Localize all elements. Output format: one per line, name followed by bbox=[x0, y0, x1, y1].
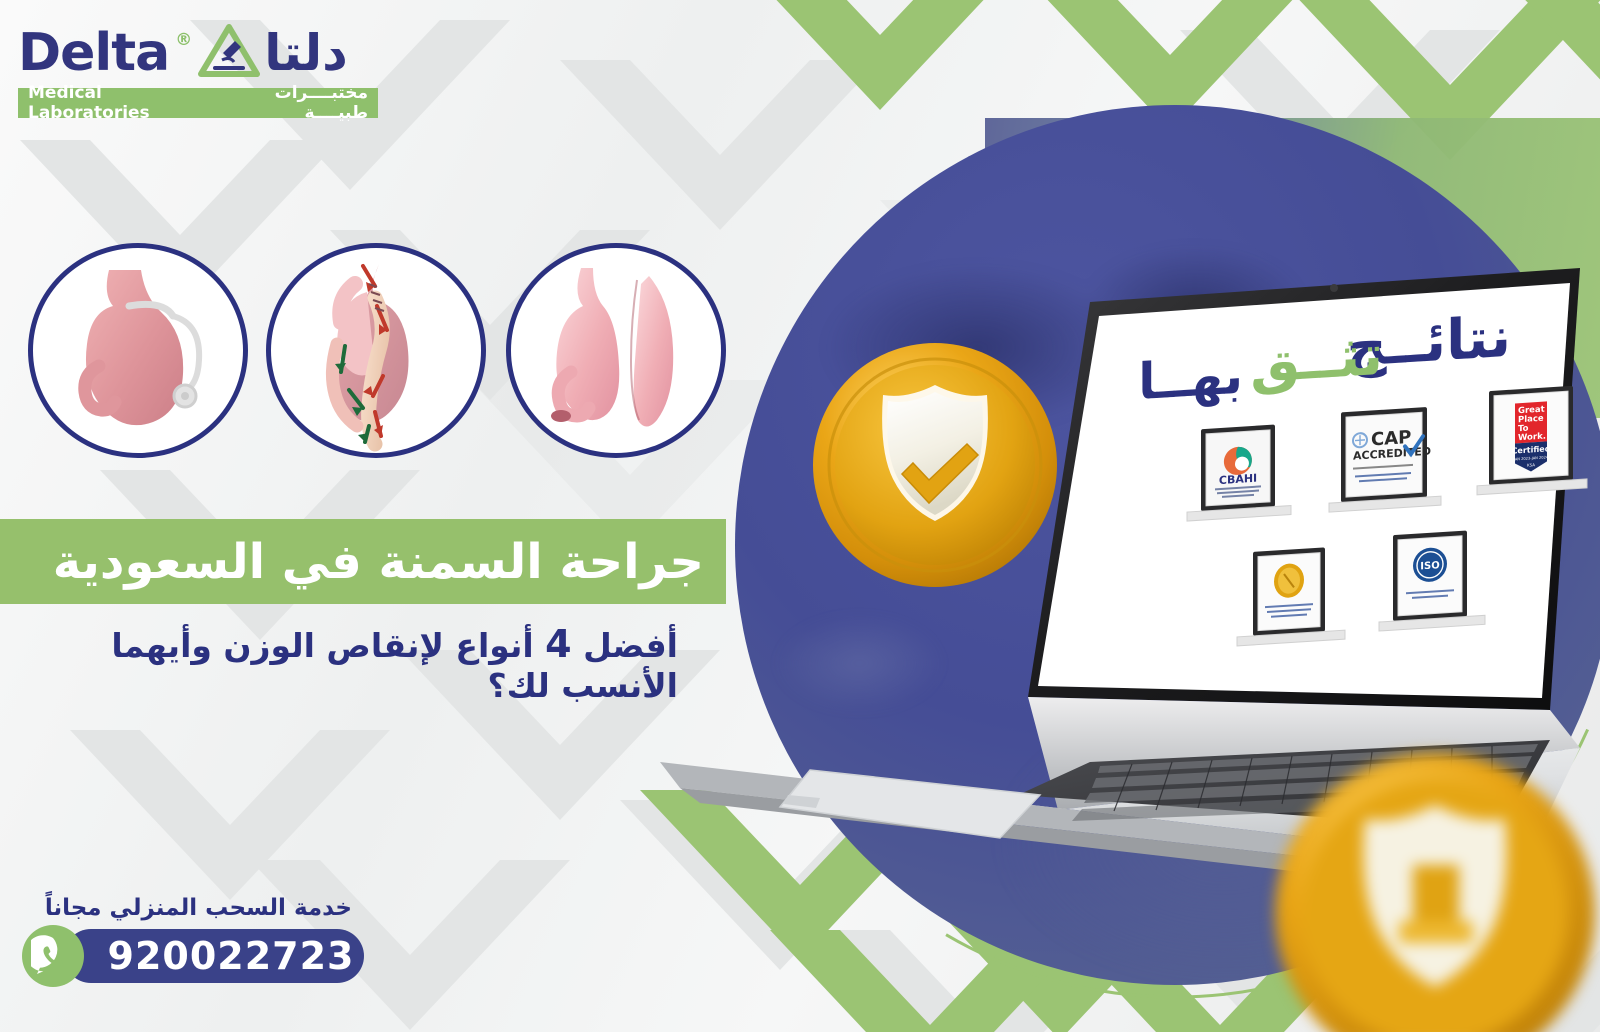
headline-banner: جراحة السمنة في السعودية bbox=[0, 519, 726, 604]
logo-tagline-en: Medical Laboratories bbox=[28, 83, 216, 123]
phone-number: 920022723 bbox=[74, 934, 355, 978]
ad-canvas: Delta ® دلتا Medical Laboratories مختبــ… bbox=[0, 0, 1600, 1032]
logo-tagline-bar: Medical Laboratories مختبــــرات طبيــــ… bbox=[18, 88, 378, 118]
gold-shield-award-badge bbox=[1255, 745, 1600, 1032]
logo-text-en: Delta bbox=[18, 27, 169, 79]
gold-shield-check-badge bbox=[810, 340, 1060, 590]
contact-block: خدمة السحب المنزلي مجاناً 920022723 bbox=[22, 895, 442, 987]
subheadline: أفضل 4 أنواع لإنقاص الوزن وأيهما الأنسب … bbox=[0, 622, 700, 705]
subheadline-number: 4 bbox=[545, 622, 571, 666]
surgery-circle-gastric-band bbox=[28, 243, 248, 458]
microscope-triangle-icon bbox=[198, 24, 260, 82]
phone-pill[interactable]: 920022723 bbox=[64, 929, 364, 983]
contact-note: خدمة السحب المنزلي مجاناً bbox=[22, 895, 352, 921]
logo-text-ar: دلتا bbox=[264, 28, 348, 78]
logo-tagline-ar: مختبــــرات طبيــــة bbox=[216, 83, 368, 123]
whatsapp-icon[interactable] bbox=[22, 925, 84, 987]
page-title: جراحة السمنة في السعودية bbox=[53, 534, 704, 590]
brand-logo: Delta ® دلتا Medical Laboratories مختبــ… bbox=[18, 22, 398, 118]
registered-mark-icon: ® bbox=[175, 30, 192, 50]
surgery-circle-gastric-bypass bbox=[266, 243, 486, 458]
